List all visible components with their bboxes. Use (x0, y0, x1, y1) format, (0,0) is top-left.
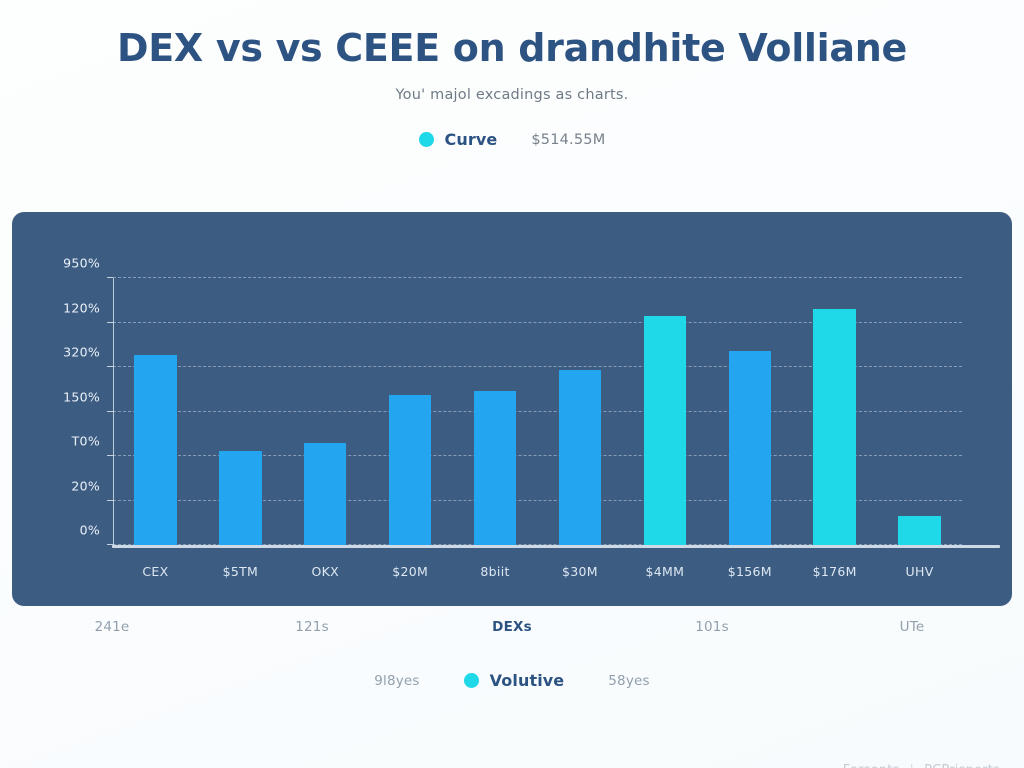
bar[interactable] (219, 451, 261, 545)
subaxis-item[interactable]: DEXs (492, 619, 532, 635)
page-title: DEX vs vs CEEE on drandhite Volliane (0, 26, 1024, 70)
x-axis-label: $4MM (646, 564, 685, 579)
y-axis-label: 120% (63, 300, 100, 315)
x-axis-label: CEX (142, 564, 168, 579)
footer: Forsents | PCPrisports (843, 763, 1000, 768)
bar[interactable] (729, 351, 771, 545)
x-axis-label: UHV (906, 564, 934, 579)
subaxis-item[interactable]: 121s (295, 619, 329, 635)
bottom-legend-left-label: 9l8yes (374, 673, 419, 689)
circle-icon (419, 132, 434, 147)
bar[interactable] (644, 316, 686, 545)
circle-icon (464, 673, 479, 688)
subaxis-item[interactable]: UTe (900, 619, 925, 635)
bar[interactable] (134, 355, 176, 545)
bar[interactable] (898, 516, 940, 545)
subaxis-item[interactable]: 101s (695, 619, 729, 635)
subaxis-item[interactable]: 241e (95, 619, 130, 635)
plot-area: 0%20%T0%150%320%120%950% CEX$5TMOKX$20M8… (113, 278, 962, 545)
y-axis-label: 0% (80, 523, 100, 538)
page-subtitle: You' majol excadings as charts. (0, 87, 1024, 103)
x-axis-label: 8biit (480, 564, 509, 579)
bars-layer (113, 278, 962, 545)
bottom-legend: 9l8yes Volutive 58yes (0, 671, 1024, 690)
legend-series-name: Curve (445, 130, 498, 149)
legend-series-value: $514.55M (531, 132, 605, 148)
top-legend: Curve $514.55M (0, 130, 1024, 149)
chart-panel: 0%20%T0%150%320%120%950% CEX$5TMOKX$20M8… (12, 212, 1012, 606)
y-axis-label: 950% (63, 256, 100, 271)
x-axis-label: $156M (728, 564, 772, 579)
footer-right-label[interactable]: PCPrisports (924, 763, 1000, 768)
x-axis-label: $20M (392, 564, 428, 579)
x-axis-line (112, 545, 1000, 548)
bottom-legend-series-name: Volutive (490, 671, 565, 690)
y-axis-label: 20% (71, 478, 100, 493)
x-axis-label: OKX (312, 564, 340, 579)
footer-left-label[interactable]: Forsents (843, 763, 900, 768)
bar[interactable] (304, 443, 346, 545)
bar[interactable] (474, 391, 516, 545)
y-axis-label: 150% (63, 389, 100, 404)
x-axis-label: $30M (562, 564, 598, 579)
bottom-legend-right-label: 58yes (608, 673, 650, 689)
bar[interactable] (559, 370, 601, 545)
footer-separator: | (910, 763, 915, 768)
legend-entry-volutive[interactable]: Volutive (464, 671, 565, 690)
subaxis-row: 241e121sDEXs101sUTe (12, 619, 1012, 641)
x-axis-label: $5TM (223, 564, 259, 579)
y-axis-label: 320% (63, 345, 100, 360)
x-axis-label: $176M (813, 564, 857, 579)
legend-entry-curve[interactable]: Curve (419, 130, 498, 149)
bar[interactable] (389, 395, 431, 545)
bar[interactable] (813, 309, 855, 545)
y-axis-label: T0% (72, 434, 100, 449)
